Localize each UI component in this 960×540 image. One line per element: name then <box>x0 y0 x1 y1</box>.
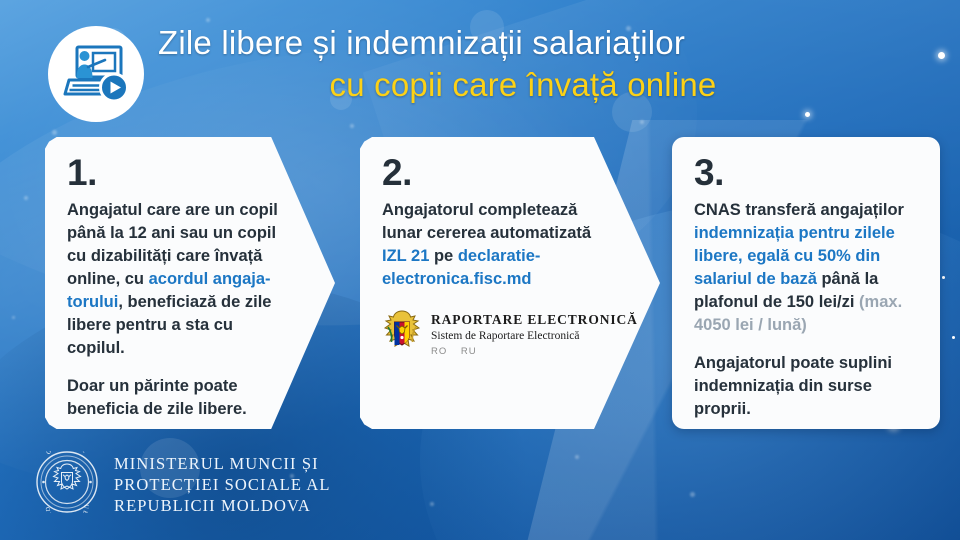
raportare-logo-text: RAPORTARE ELECTRONICĂ Sistem de Raportar… <box>431 309 638 357</box>
ministry-footer: GUVERNUL REPUBLICII MOLDOVA MINISTERUL M… <box>36 451 331 518</box>
ministry-line-2: PROTECȚIEI SOCIALE AL <box>114 474 331 495</box>
step-number: 1. <box>67 153 287 193</box>
step-panel-3: 3. CNAS transferă angajaților indemnizaț… <box>672 137 940 429</box>
poster-header: Zile libere și indemnizații salariaților… <box>0 0 960 132</box>
moldova-coat-of-arms-icon <box>382 309 422 360</box>
step-panel-2: 2. Angajatorul completează lunar cererea… <box>360 137 660 429</box>
text-run-normal: pe <box>429 247 457 265</box>
step-body: Angajatorul completează lunar cererea au… <box>382 199 612 291</box>
step-number: 3. <box>694 153 918 193</box>
step-number: 2. <box>382 153 612 193</box>
step-body: CNAS transferă angajaților indemnizația … <box>694 199 918 421</box>
step-body: Angajatul care are un copil până la 12 a… <box>67 199 287 421</box>
text-run-accent: IZL 21 <box>382 247 429 265</box>
step-panel-1: 1. Angajatul care are un copil până la 1… <box>45 137 335 429</box>
language-option-ru[interactable]: RU <box>461 346 477 357</box>
text-run-normal: Angajatorul completează lunar cererea au… <box>382 201 591 242</box>
steps-container: 1. Angajatul care are un copil până la 1… <box>0 137 960 429</box>
sparkle-dot <box>690 492 695 497</box>
raportare-electronica-logo[interactable]: RAPORTARE ELECTRONICĂ Sistem de Raportar… <box>382 309 612 360</box>
ministry-line-3: REPUBLICII MOLDOVA <box>114 495 331 516</box>
title-line-primary: Zile libere și indemnizații salariaților <box>158 22 948 64</box>
title-line-secondary: cu copii care învață online <box>158 64 948 106</box>
step-paragraph: Doar un părinte poate beneficia de zile … <box>67 375 287 421</box>
language-option-ro[interactable]: RO <box>431 346 447 357</box>
text-run-normal: Doar un părinte poate beneficia de zile … <box>67 377 247 418</box>
online-learning-video-icon <box>48 26 144 122</box>
sparkle-dot <box>430 502 434 506</box>
text-run-normal: Angajatorul poate suplini indemnizația d… <box>694 354 892 418</box>
step-paragraph: Angajatul care are un copil până la 12 a… <box>67 199 287 360</box>
step-paragraph: Angajatorul poate suplini indemnizația d… <box>694 352 918 421</box>
raportare-language-switcher[interactable]: RO RU <box>431 346 638 357</box>
poster-title: Zile libere și indemnizații salariaților… <box>158 22 948 106</box>
ministry-line-1: MINISTERUL MUNCII ȘI <box>114 453 331 474</box>
moldova-government-seal-icon: GUVERNUL REPUBLICII MOLDOVA <box>36 451 98 518</box>
infographic-poster: Zile libere și indemnizații salariaților… <box>0 0 960 540</box>
sparkle-dot <box>575 455 579 459</box>
raportare-logo-title: RAPORTARE ELECTRONICĂ <box>431 312 638 328</box>
step-paragraph: CNAS transferă angajaților indemnizația … <box>694 199 918 337</box>
ministry-name: MINISTERUL MUNCII ȘI PROTECȚIEI SOCIALE … <box>114 453 331 516</box>
text-run-normal: CNAS transferă angajaților <box>694 201 904 219</box>
step-paragraph: Angajatorul completează lunar cererea au… <box>382 199 612 291</box>
raportare-logo-subtitle: Sistem de Raportare Electronică <box>431 330 638 342</box>
